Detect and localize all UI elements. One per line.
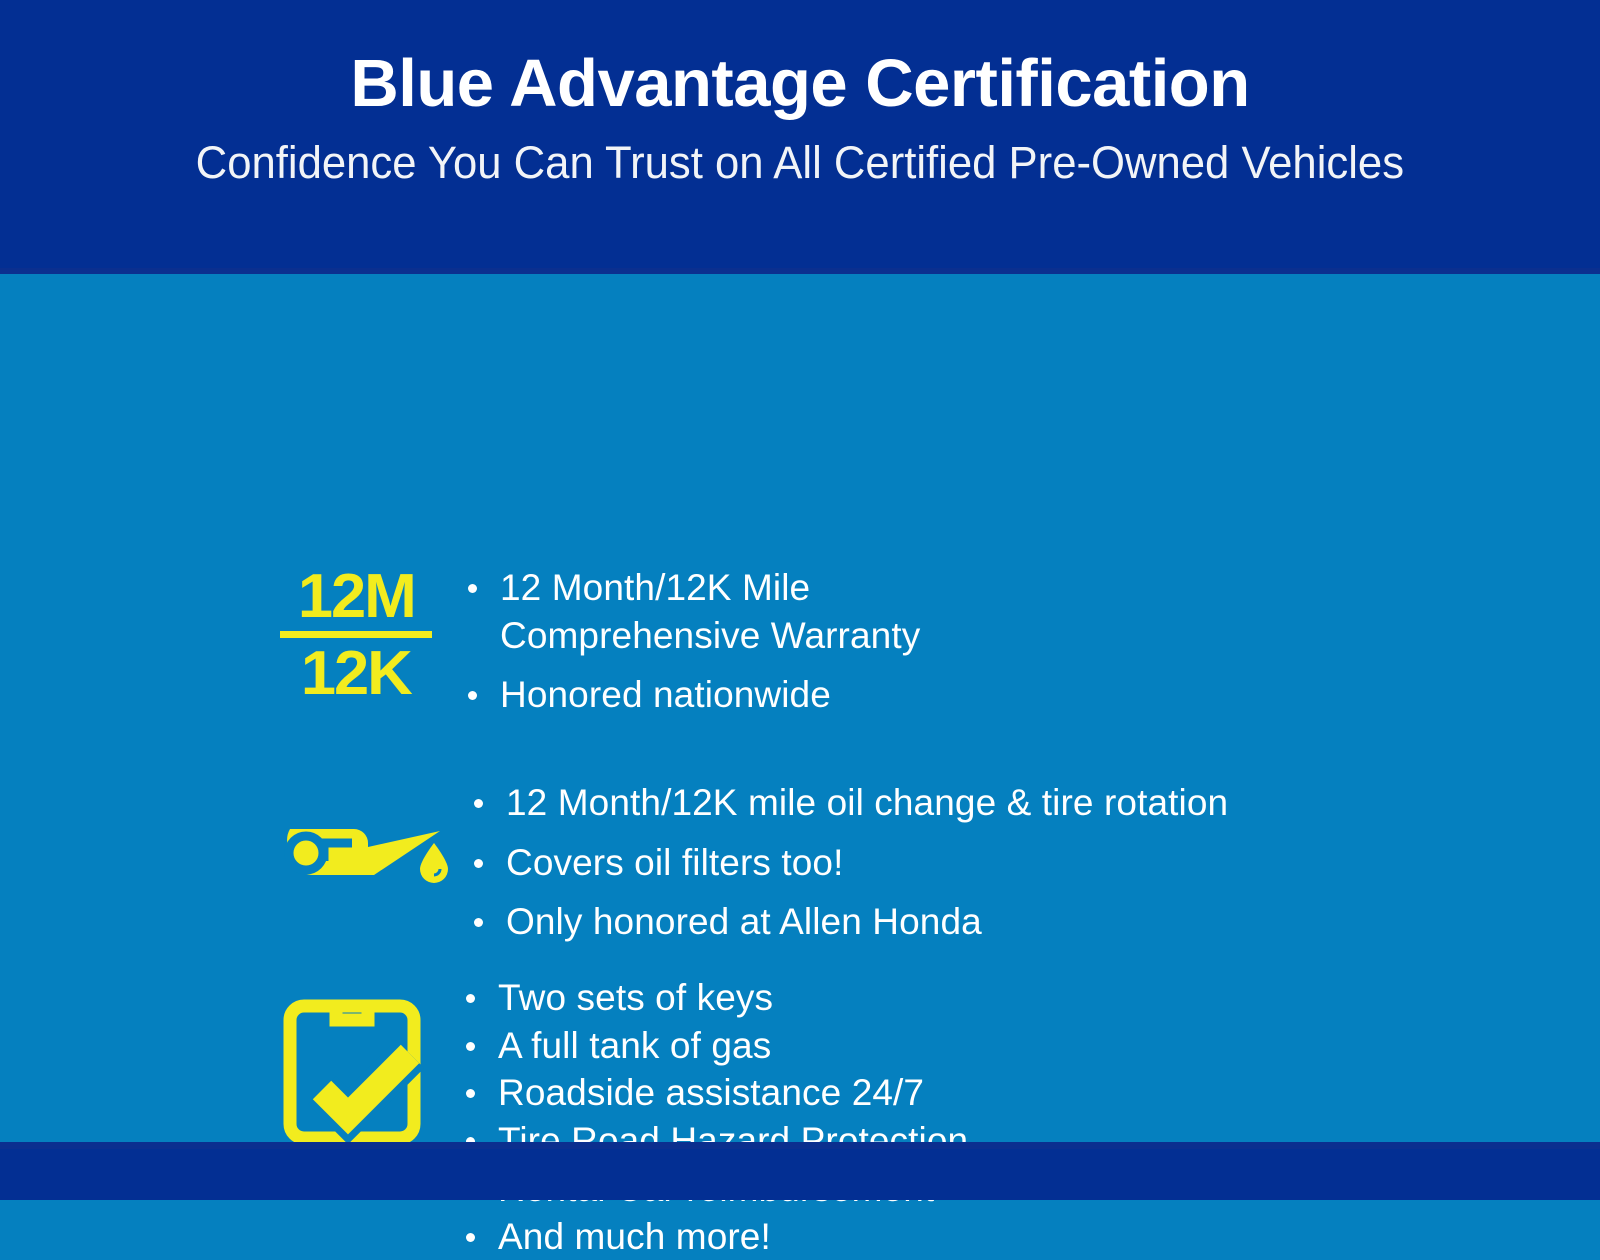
warranty-12m-12k-icon: 12M 12K <box>272 568 440 720</box>
list-item-text: Covers oil filters too! <box>506 842 843 883</box>
list-item: 12 Month/12K mile oil change & tire rota… <box>468 779 1228 827</box>
list-item: A full tank of gas <box>460 1022 968 1070</box>
bullet-dot-icon <box>468 584 477 593</box>
list-item: Honored nationwide <box>462 671 920 719</box>
benefit-list-warranty: 12 Month/12K Mile Comprehensive Warranty… <box>462 564 920 719</box>
warranty-miles-label: 12K <box>301 645 411 702</box>
list-item-text: Honored nationwide <box>500 674 831 715</box>
bullet-dot-icon <box>466 1089 475 1098</box>
benefit-block-warranty: 12M 12K 12 Month/12K Mile Comprehensive … <box>272 564 920 720</box>
poster-header: Blue Advantage Certification Confidence … <box>0 0 1600 274</box>
list-item: 12 Month/12K Mile Comprehensive Warranty <box>462 564 920 659</box>
list-item-text: A full tank of gas <box>498 1025 771 1066</box>
bullet-dot-icon <box>468 691 477 700</box>
list-item-text: Roadside assistance 24/7 <box>498 1072 924 1113</box>
page-title: Blue Advantage Certification <box>350 48 1249 120</box>
warranty-months-label: 12M <box>298 568 415 625</box>
oil-can-icon <box>268 795 458 895</box>
list-item: Two sets of keys <box>460 974 968 1022</box>
bullet-dot-icon <box>466 1042 475 1051</box>
benefit-block-maintenance: 12 Month/12K mile oil change & tire rota… <box>268 779 1228 946</box>
page-subtitle: Confidence You Can Trust on All Certifie… <box>196 138 1404 188</box>
list-item-text: 12 Month/12K Mile Comprehensive Warranty <box>500 567 920 656</box>
blue-advantage-poster: Blue Advantage Certification Confidence … <box>0 0 1600 1200</box>
list-item: Only honored at Allen Honda <box>468 898 1228 946</box>
list-item: Covers oil filters too! <box>468 839 1228 887</box>
benefits-section: 12M 12K 12 Month/12K Mile Comprehensive … <box>0 274 1600 1200</box>
list-item-text: Two sets of keys <box>498 977 773 1018</box>
fraction-divider <box>280 631 432 638</box>
benefit-list-maintenance: 12 Month/12K mile oil change & tire rota… <box>468 779 1228 946</box>
list-item-text: And much more! <box>498 1216 771 1257</box>
footer-bar <box>0 1142 1600 1200</box>
list-item: Roadside assistance 24/7 <box>460 1069 968 1117</box>
benefit-block-extras: Two sets of keys A full tank of gas Road… <box>278 974 968 1260</box>
bullet-dot-icon <box>474 859 483 868</box>
bullet-dot-icon <box>474 799 483 808</box>
bullet-dot-icon <box>466 1233 475 1242</box>
bullet-dot-icon <box>474 918 483 927</box>
list-item-text: Only honored at Allen Honda <box>506 901 982 942</box>
benefit-list-extras: Two sets of keys A full tank of gas Road… <box>460 974 968 1260</box>
list-item-text: 12 Month/12K mile oil change & tire rota… <box>506 782 1228 823</box>
bullet-dot-icon <box>466 994 475 1003</box>
clipboard-check-icon <box>278 982 438 1152</box>
list-item: And much more! <box>460 1213 968 1260</box>
